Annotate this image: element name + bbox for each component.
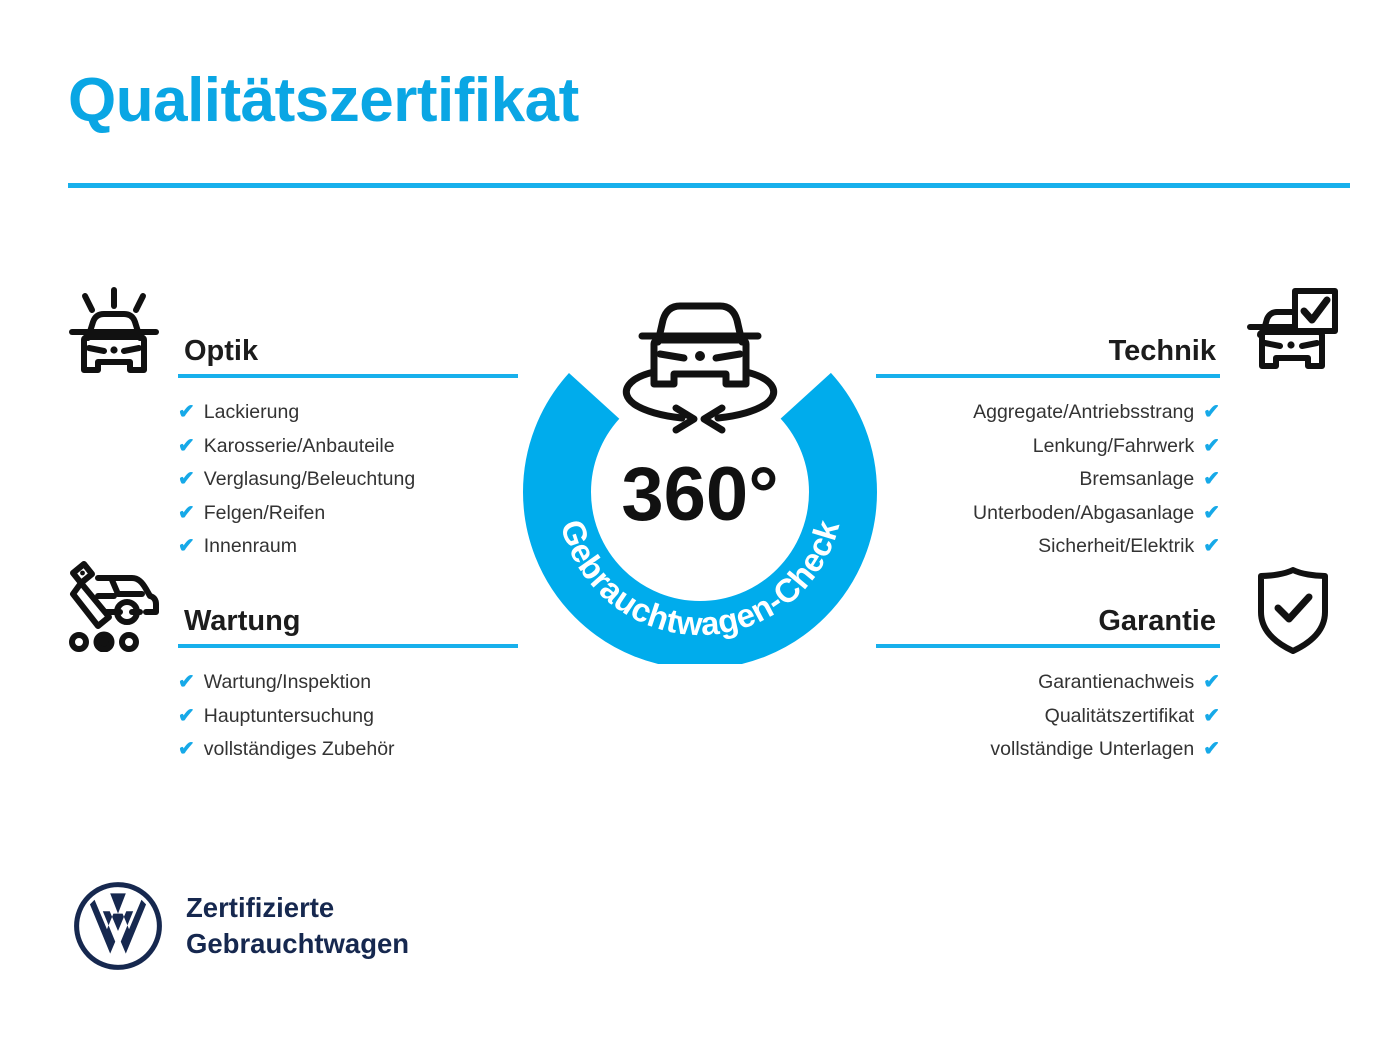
- checklist-optik: ✔Lackierung ✔Karosserie/Anbauteile ✔Verg…: [178, 396, 518, 564]
- title-divider: [68, 183, 1350, 188]
- check-icon: ✔: [1203, 463, 1220, 497]
- section-header-optik: Optik: [178, 326, 518, 378]
- list-item: ✔Verglasung/Beleuchtung: [178, 463, 518, 497]
- list-item-label: vollständige Unterlagen: [990, 733, 1194, 767]
- list-item-label: Innenraum: [204, 530, 297, 564]
- list-item-label: vollständiges Zubehör: [204, 733, 395, 767]
- section-title-garantie: Garantie: [1098, 605, 1216, 638]
- footer-line-2: Gebrauchtwagen: [186, 926, 409, 962]
- list-item-label: Hauptuntersuchung: [204, 700, 374, 734]
- car-front-checkbox-icon: [1246, 286, 1340, 385]
- section-divider-wartung: [178, 644, 518, 648]
- car-front-shine-icon: [62, 286, 166, 387]
- list-item-label: Lackierung: [204, 396, 299, 430]
- list-item-label: Verglasung/Beleuchtung: [204, 463, 415, 497]
- list-item-label: Karosserie/Anbauteile: [204, 430, 395, 464]
- list-item: Unterboden/Abgasanlage✔: [876, 497, 1220, 531]
- list-item: Qualitätszertifikat✔: [876, 700, 1220, 734]
- section-garantie: Garantie Garantienachweis✔ Qualitätszert…: [876, 596, 1220, 767]
- pencil-car-service-icon: [62, 556, 166, 657]
- list-item-label: Sicherheit/Elektrik: [1038, 530, 1194, 564]
- check-icon: ✔: [178, 430, 195, 464]
- list-item-label: Qualitätszertifikat: [1045, 700, 1195, 734]
- list-item: Aggregate/Antriebsstrang✔: [876, 396, 1220, 430]
- list-item: ✔Felgen/Reifen: [178, 497, 518, 531]
- footer-line-1: Zertifizierte: [186, 890, 409, 926]
- check-icon: ✔: [178, 463, 195, 497]
- check-icon: ✔: [1203, 530, 1220, 564]
- check-icon: ✔: [1203, 430, 1220, 464]
- check-icon: ✔: [1203, 700, 1220, 734]
- section-header-wartung: Wartung: [178, 596, 518, 648]
- page-title: Qualitätszertifikat: [68, 68, 579, 133]
- section-wartung: Wartung ✔Wartung/Inspektion ✔Hauptunters…: [178, 596, 518, 767]
- badge-center-label: 360°: [621, 452, 778, 537]
- check-icon: ✔: [178, 396, 195, 430]
- list-item: ✔Wartung/Inspektion: [178, 666, 518, 700]
- check-icon: ✔: [1203, 396, 1220, 430]
- list-item: ✔Lackierung: [178, 396, 518, 430]
- section-header-garantie: Garantie: [876, 596, 1220, 648]
- section-divider-garantie: [876, 644, 1220, 648]
- section-divider-optik: [178, 374, 518, 378]
- badge-360-gebrauchtwagen-check: Gebrauchtwagen-Check 360°: [508, 280, 892, 664]
- list-item: Lenkung/Fahrwerk✔: [876, 430, 1220, 464]
- section-divider-technik: [876, 374, 1220, 378]
- list-item-label: Aggregate/Antriebsstrang: [973, 396, 1194, 430]
- check-icon: ✔: [1203, 733, 1220, 767]
- list-item: ✔Hauptuntersuchung: [178, 700, 518, 734]
- section-title-technik: Technik: [1109, 335, 1216, 368]
- shield-check-icon: [1252, 564, 1334, 661]
- section-title-wartung: Wartung: [184, 605, 301, 638]
- list-item: Sicherheit/Elektrik✔: [876, 530, 1220, 564]
- check-icon: ✔: [178, 530, 195, 564]
- list-item-label: Wartung/Inspektion: [204, 666, 371, 700]
- checklist-technik: Aggregate/Antriebsstrang✔ Lenkung/Fahrwe…: [876, 396, 1220, 564]
- list-item-label: Garantienachweis: [1038, 666, 1194, 700]
- list-item: Garantienachweis✔: [876, 666, 1220, 700]
- section-technik: Technik Aggregate/Antriebsstrang✔ Lenkun…: [876, 326, 1220, 564]
- list-item: ✔Karosserie/Anbauteile: [178, 430, 518, 464]
- check-icon: ✔: [178, 700, 195, 734]
- section-optik: Optik ✔Lackierung ✔Karosserie/Anbauteile…: [178, 326, 518, 564]
- check-icon: ✔: [1203, 497, 1220, 531]
- list-item: Bremsanlage✔: [876, 463, 1220, 497]
- footer-brand-text: Zertifizierte Gebrauchtwagen: [186, 890, 409, 962]
- list-item-label: Felgen/Reifen: [204, 497, 325, 531]
- check-icon: ✔: [178, 733, 195, 767]
- check-icon: ✔: [178, 497, 195, 531]
- footer-brand: Zertifizierte Gebrauchtwagen: [72, 880, 409, 972]
- check-icon: ✔: [178, 666, 195, 700]
- section-title-optik: Optik: [184, 335, 258, 368]
- list-item-label: Bremsanlage: [1079, 463, 1194, 497]
- checklist-garantie: Garantienachweis✔ Qualitätszertifikat✔ v…: [876, 666, 1220, 767]
- checklist-wartung: ✔Wartung/Inspektion ✔Hauptuntersuchung ✔…: [178, 666, 518, 767]
- list-item: ✔vollständiges Zubehör: [178, 733, 518, 767]
- list-item-label: Lenkung/Fahrwerk: [1033, 430, 1195, 464]
- check-icon: ✔: [1203, 666, 1220, 700]
- list-item-label: Unterboden/Abgasanlage: [973, 497, 1194, 531]
- list-item: vollständige Unterlagen✔: [876, 733, 1220, 767]
- section-header-technik: Technik: [876, 326, 1220, 378]
- list-item: ✔Innenraum: [178, 530, 518, 564]
- vw-roundel-icon: [72, 880, 164, 972]
- car-front-rotate-icon: [626, 306, 773, 430]
